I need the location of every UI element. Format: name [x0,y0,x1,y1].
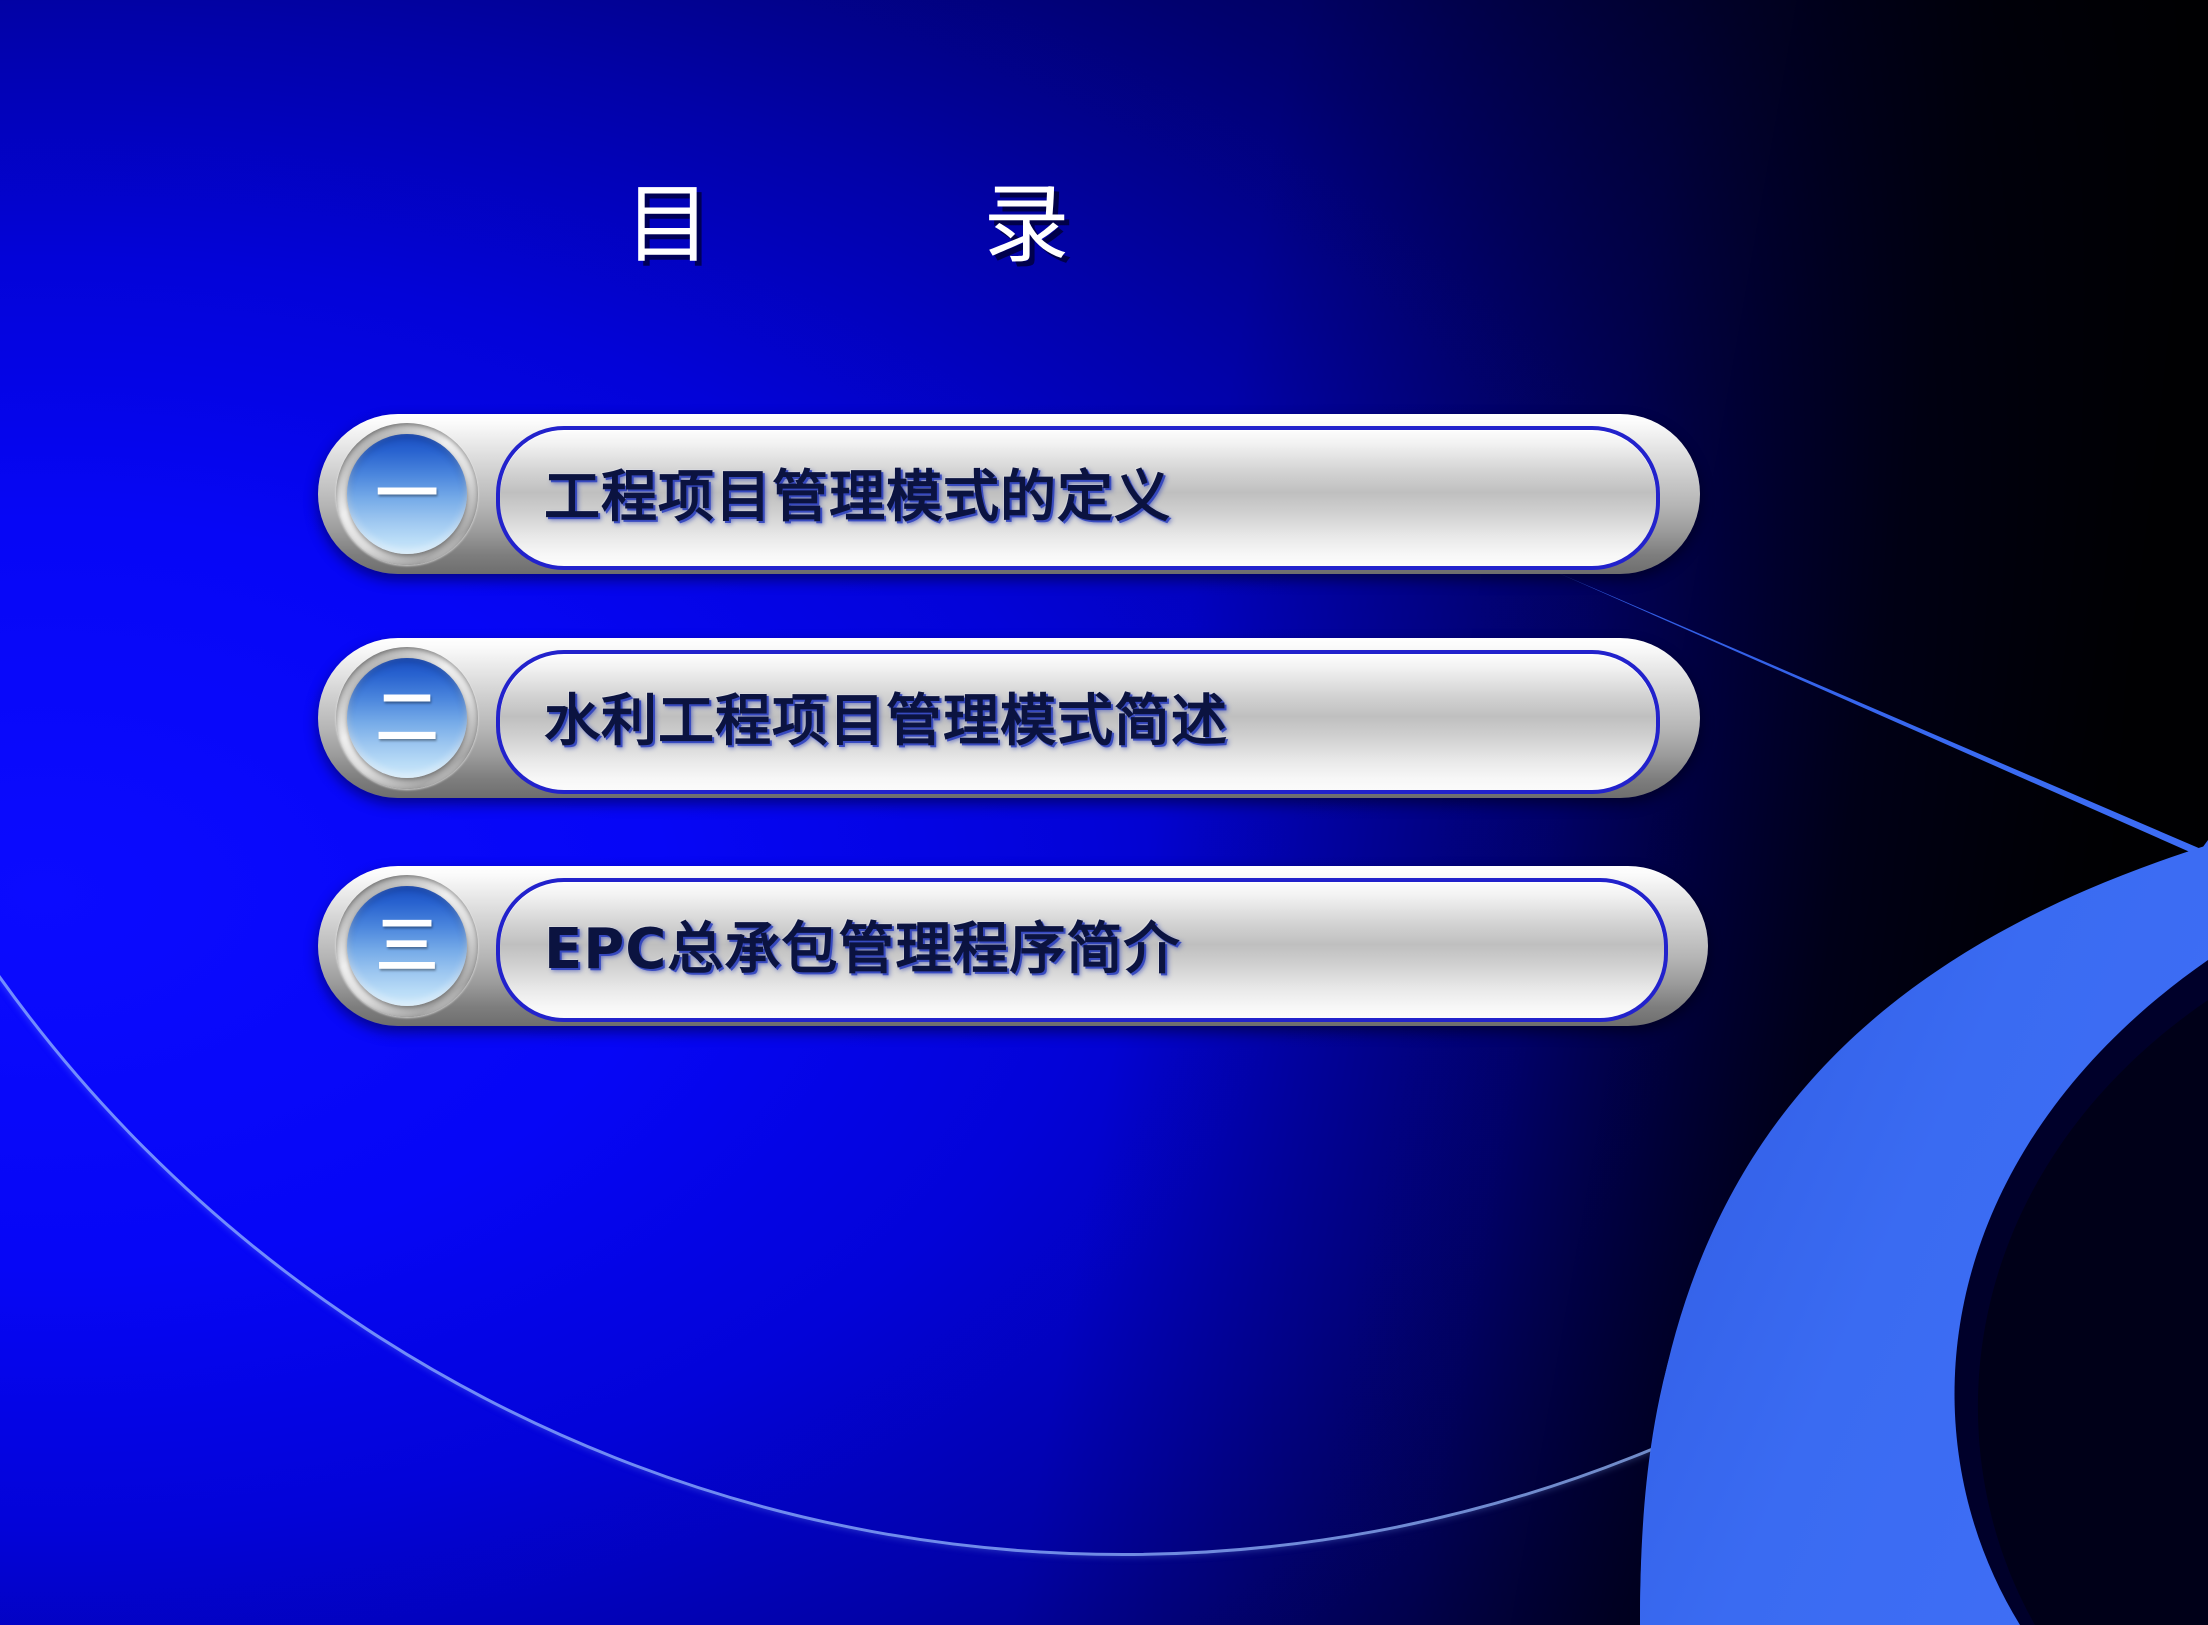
number-badge: 三 [347,886,467,1006]
number-badge-label: 二 [376,687,438,749]
presentation-slide: 目 录 一 工程项目管理模式的定义 二 水利工程项目管理模式简述 [0,0,2208,1625]
number-badge-well: 二 [336,647,478,789]
number-badge-label: 三 [376,915,438,977]
agenda-item-2[interactable]: 二 水利工程项目管理模式简述 [318,638,1700,798]
agenda-pill[interactable]: 工程项目管理模式的定义 [496,426,1660,570]
page-title: 目 录 [0,182,1700,268]
agenda-item-label: EPC总承包管理程序简介 [500,919,1180,981]
number-badge: 一 [347,434,467,554]
agenda-item-1[interactable]: 一 工程项目管理模式的定义 [318,414,1700,574]
number-badge-label: 一 [376,463,438,525]
agenda-item-label: 工程项目管理模式的定义 [500,467,1171,529]
number-badge: 二 [347,658,467,778]
capsule-shell: 二 水利工程项目管理模式简述 [318,638,1700,798]
number-badge-well: 一 [336,423,478,565]
agenda-pill[interactable]: 水利工程项目管理模式简述 [496,650,1660,794]
agenda-pill[interactable]: EPC总承包管理程序简介 [496,878,1668,1022]
capsule-shell: 一 工程项目管理模式的定义 [318,414,1700,574]
number-badge-well: 三 [336,875,478,1017]
capsule-shell: 三 EPC总承包管理程序简介 [318,866,1708,1026]
agenda-item-3[interactable]: 三 EPC总承包管理程序简介 [318,866,1708,1026]
agenda-item-label: 水利工程项目管理模式简述 [500,691,1228,753]
